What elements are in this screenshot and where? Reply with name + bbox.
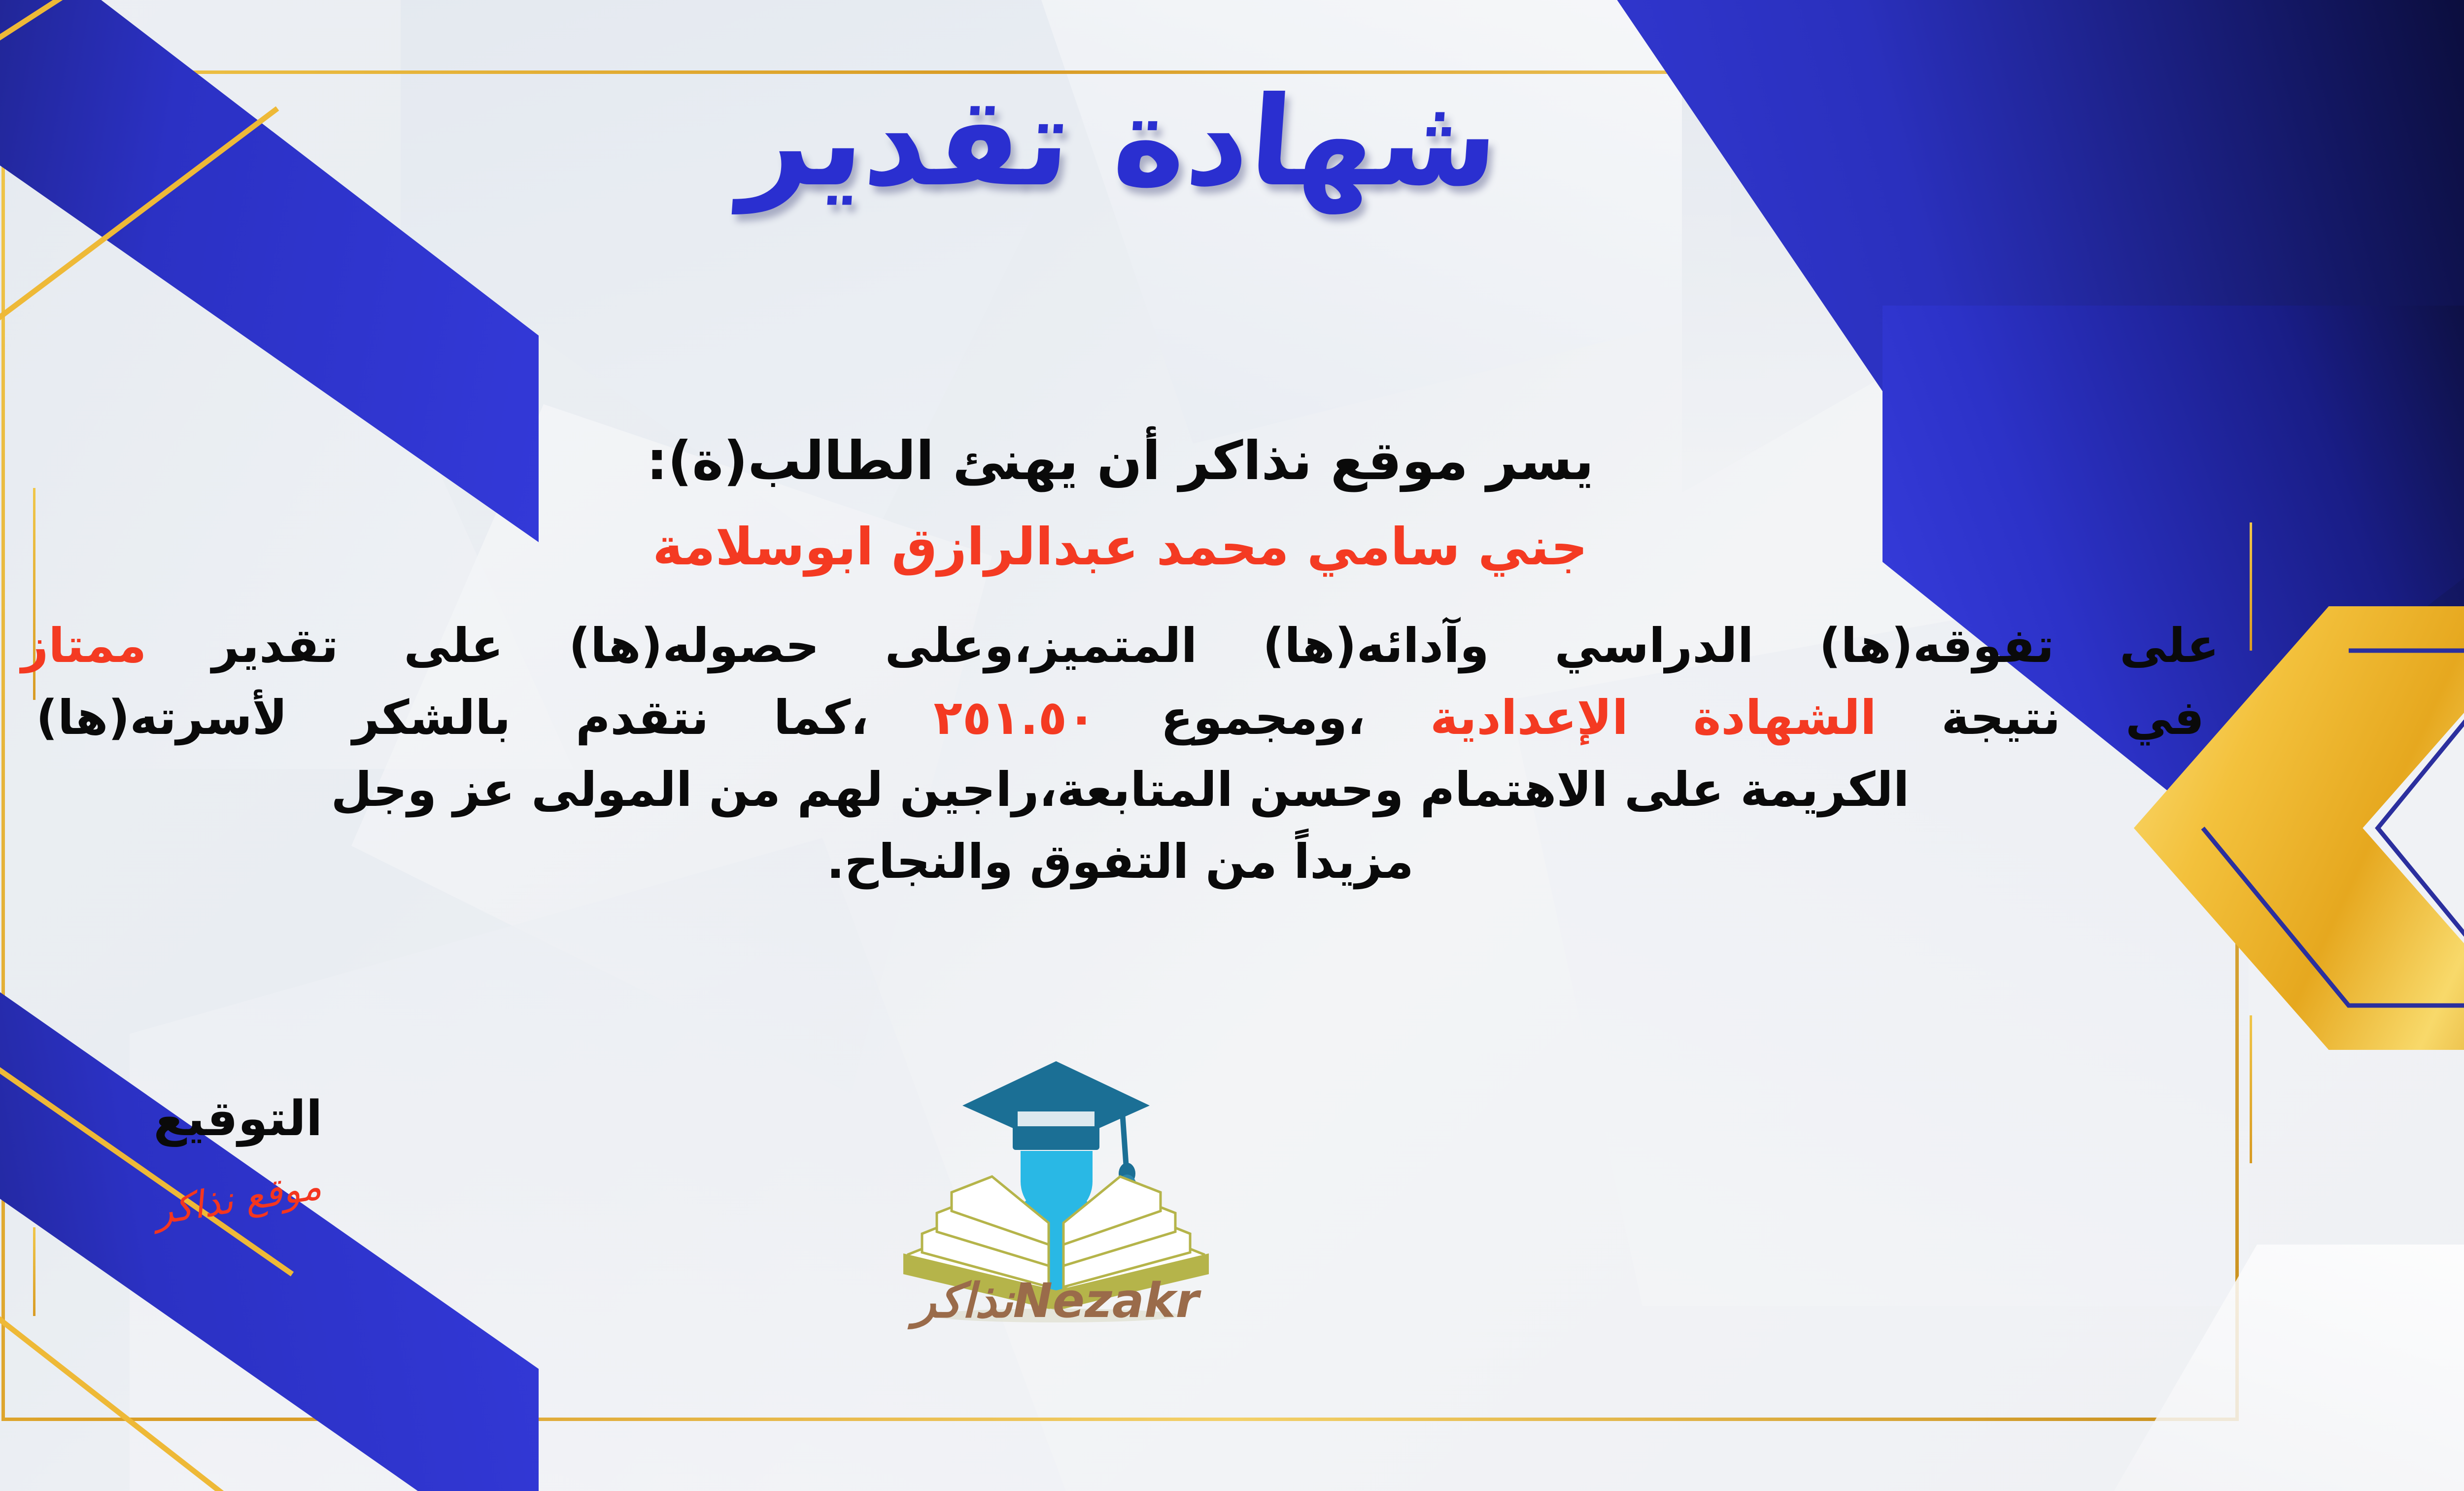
body-line-2-prefix: في نتيجة <box>1942 690 2205 745</box>
body-line-2-mid: ،ومجموع <box>1161 690 1366 745</box>
exam-name: الشهادة الإعدادية <box>1430 690 1877 745</box>
certificate-title: شهادة تقدير <box>0 80 2243 204</box>
logo-caption: Nezakrنذاكر <box>874 1273 1238 1328</box>
body-line-2-suffix: ،كما نتقدم بالشكر لأسرته(ها) <box>36 690 869 745</box>
body-line-3: الكريمة على الاهتمام وحسن المتابعة،راجين… <box>16 754 2224 826</box>
signature-label: التوقيع <box>66 1091 411 1147</box>
body-line-1-text: على تفوقه(ها) الدراسي وآدائه(ها) المتميز… <box>212 618 2219 673</box>
gold-accent-vertical-top <box>2250 522 2252 651</box>
body-paragraph: على تفوقه(ها) الدراسي وآدائه(ها) المتميز… <box>16 610 2224 898</box>
grade-value: ممتاز <box>21 618 146 673</box>
certificate-canvas: شهادة تقدير يسر موقع نذاكر أن يهنئ الطال… <box>0 0 2464 1491</box>
body-line-4: مزيداً من التفوق والنجاح. <box>16 826 2224 898</box>
total-score: ٢٥١.٥٠ <box>933 690 1095 745</box>
signature-block: التوقيع موقع نذاكر <box>66 1091 411 1220</box>
body-line-1: على تفوقه(ها) الدراسي وآدائه(ها) المتميز… <box>16 610 2224 682</box>
gold-accent-vertical-bottom <box>2250 1015 2252 1163</box>
certificate-content: شهادة تقدير يسر موقع نذاكر أن يهنئ الطال… <box>1 70 2239 1421</box>
signature-script: موقع نذاكر <box>152 1164 325 1233</box>
student-name: جني سامي محمد عبدالرازق ابوسلامة <box>1 517 2239 577</box>
body-line-2: في نتيجة الشهادة الإعدادية ،ومجموع ٢٥١.٥… <box>16 682 2224 754</box>
greeting-line: يسر موقع نذاكر أن يهنئ الطالب(ة): <box>1 430 2239 492</box>
